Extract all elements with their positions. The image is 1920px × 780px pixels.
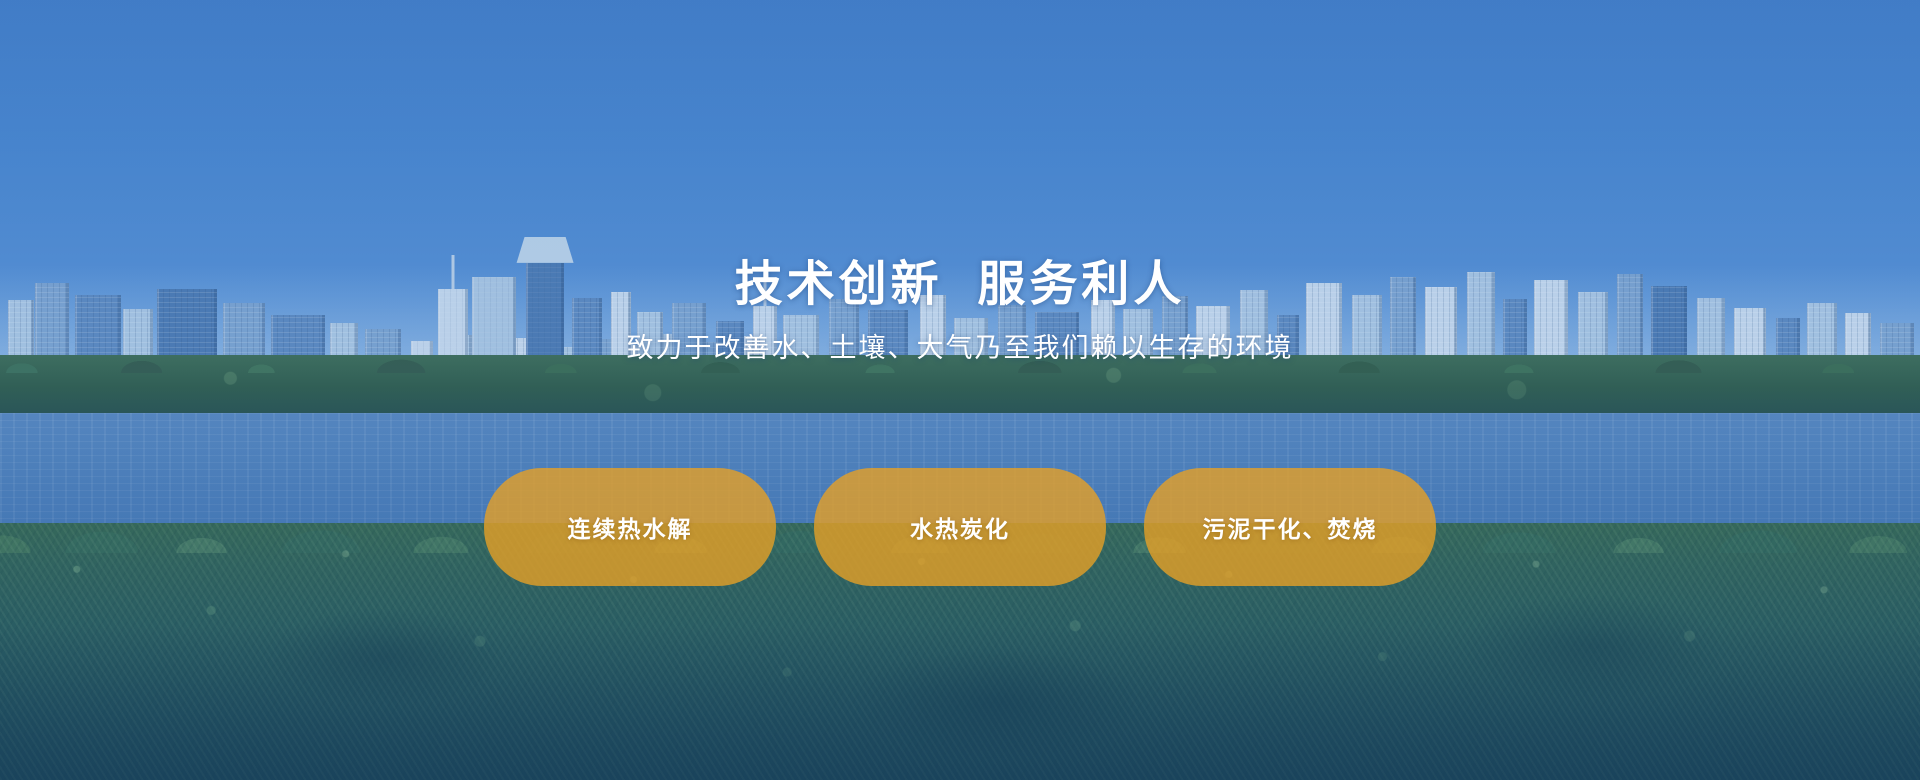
hero-content: 技术创新 服务利人 致力于改善水、土壤、大气乃至我们赖以生存的环境 (0, 0, 1920, 780)
service-button-hydrothermal-carbonization[interactable]: 水热炭化 (814, 468, 1106, 586)
service-button-sludge-drying-incineration[interactable]: 污泥干化、焚烧 (1144, 468, 1436, 586)
hero-subheadline: 致力于改善水、土壤、大气乃至我们赖以生存的环境 (627, 312, 1294, 364)
hero-banner: 技术创新 服务利人 致力于改善水、土壤、大气乃至我们赖以生存的环境 连续热水解 … (0, 0, 1920, 780)
service-button-row: 连续热水解 水热炭化 污泥干化、焚烧 (484, 468, 1436, 586)
service-button-continuous-thermal-hydrolysis[interactable]: 连续热水解 (484, 468, 776, 586)
hero-headline: 技术创新 服务利人 (735, 0, 1186, 312)
